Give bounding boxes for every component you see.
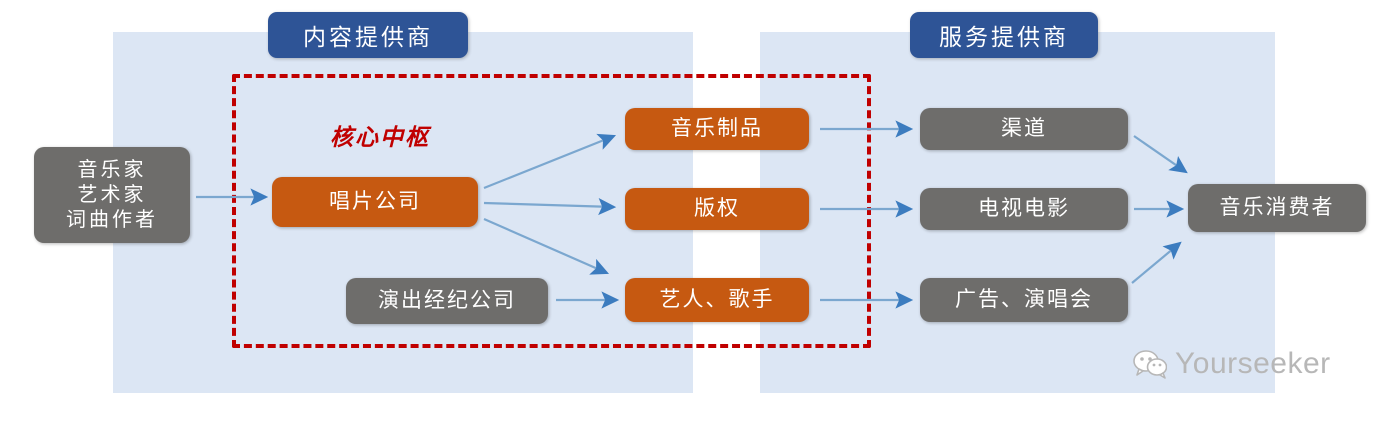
node-artists-singers[interactable]: 艺人、歌手 xyxy=(625,278,809,322)
node-ads-concerts[interactable]: 广告、演唱会 xyxy=(920,278,1128,322)
section-header-service-provider: 服务提供商 xyxy=(910,12,1098,58)
node-tv-film[interactable]: 电视电影 xyxy=(920,188,1128,230)
node-performance-agency[interactable]: 演出经纪公司 xyxy=(346,278,548,324)
watermark: Yourseeker xyxy=(1133,347,1331,381)
diagram-canvas: 内容提供商 服务提供商 核心中枢 音乐家 艺术家 词曲作者 唱片公司 演出经纪公… xyxy=(0,0,1397,427)
section-header-content-provider: 内容提供商 xyxy=(268,12,468,58)
wechat-icon xyxy=(1133,349,1167,379)
watermark-text: Yourseeker xyxy=(1175,347,1331,381)
node-creators[interactable]: 音乐家 艺术家 词曲作者 xyxy=(34,147,190,243)
core-hub-label: 核心中枢 xyxy=(330,118,430,152)
node-channel[interactable]: 渠道 xyxy=(920,108,1128,150)
node-copyright[interactable]: 版权 xyxy=(625,188,809,230)
node-record-label[interactable]: 唱片公司 xyxy=(272,177,478,227)
node-music-products[interactable]: 音乐制品 xyxy=(625,108,809,150)
node-music-consumers[interactable]: 音乐消费者 xyxy=(1188,184,1366,232)
